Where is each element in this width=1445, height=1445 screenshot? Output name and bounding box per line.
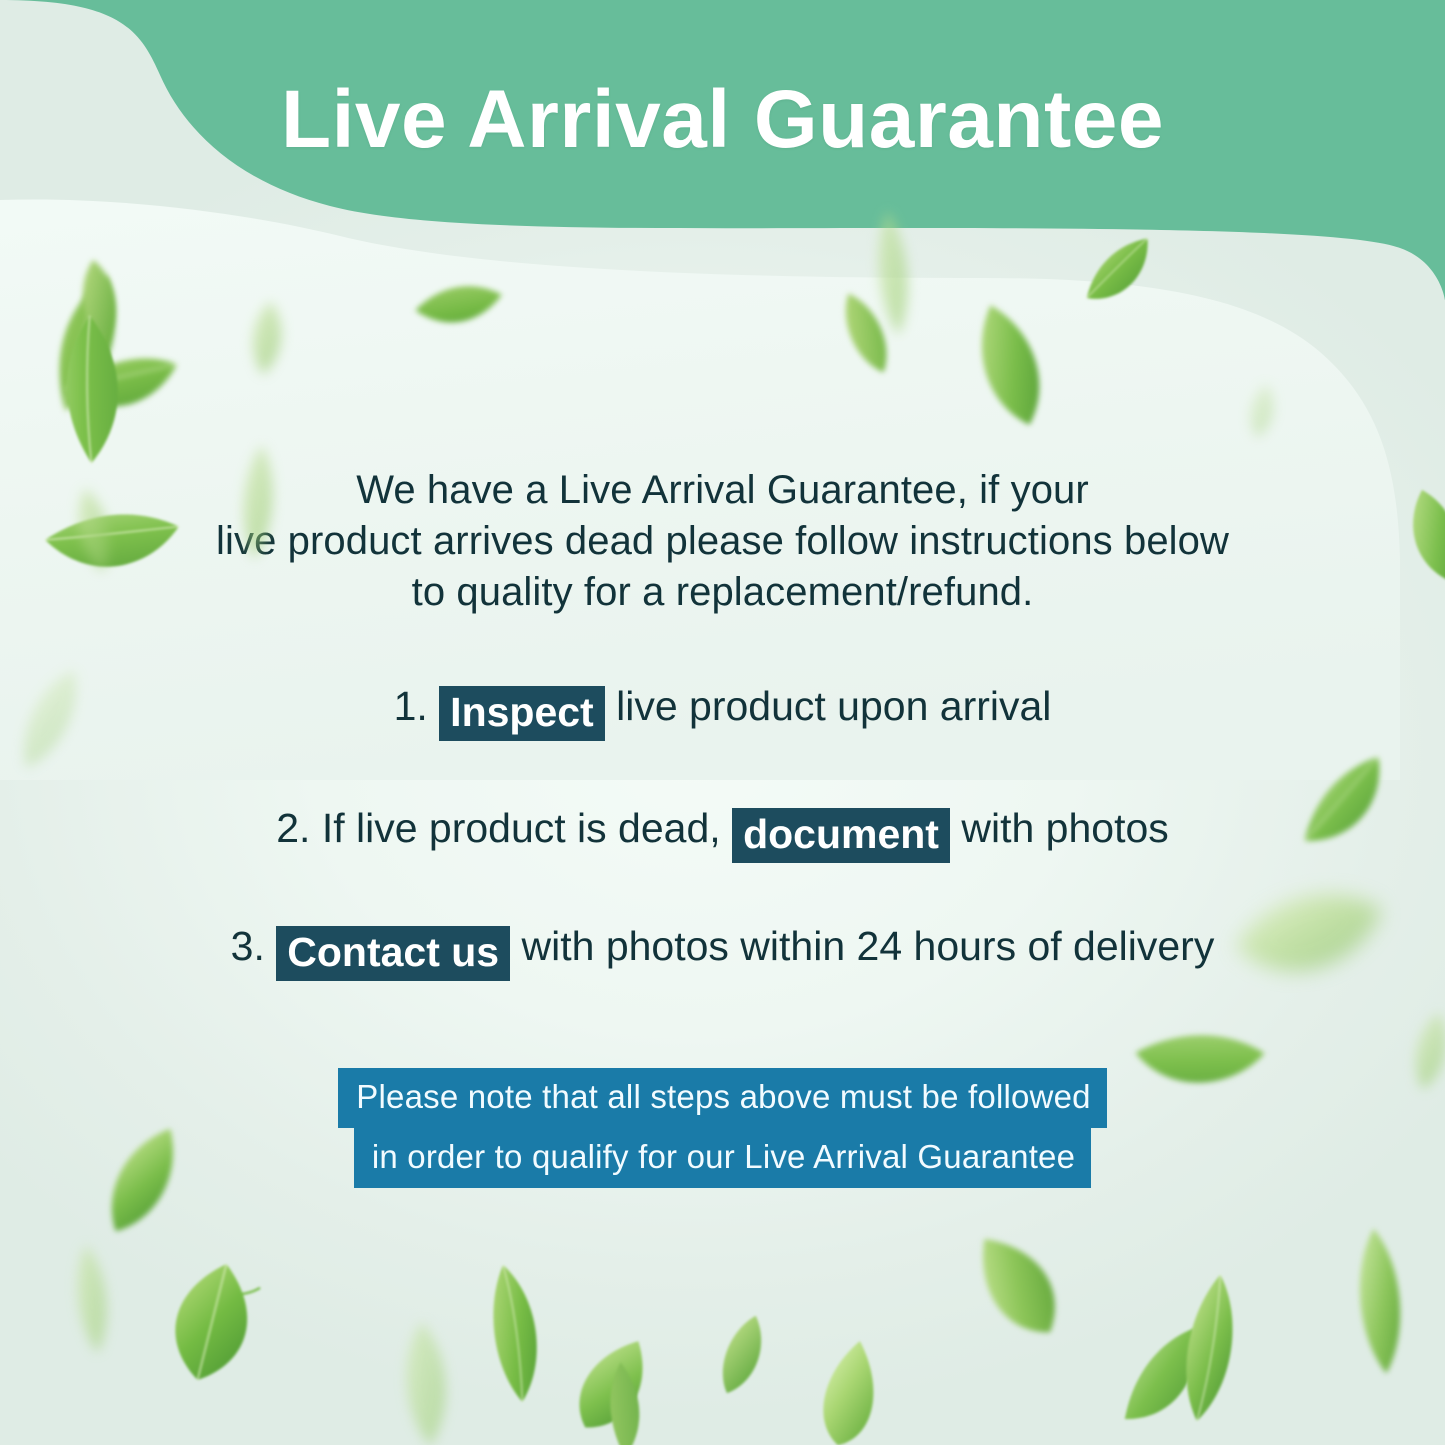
note-row-1: Please note that all steps above must be… <box>0 1068 1445 1128</box>
step-highlight-document: document <box>732 808 950 863</box>
intro-line-1: We have a Live Arrival Guarantee, if you… <box>143 465 1303 516</box>
step-number: 1. <box>394 683 428 729</box>
step-item: 2. If live product is dead, document wit… <box>0 802 1445 857</box>
intro-paragraph: We have a Live Arrival Guarantee, if you… <box>143 465 1303 618</box>
note-block: Please note that all steps above must be… <box>0 1068 1445 1188</box>
live-arrival-guarantee-poster: Live Arrival Guarantee We have a Live Ar… <box>0 0 1445 1445</box>
step-text-after: live product upon arrival <box>616 683 1051 729</box>
step-text-before: If live product is dead, <box>322 805 721 851</box>
step-highlight-contact-us: Contact us <box>276 926 510 981</box>
step-item: 1. Inspect live product upon arrival <box>0 680 1445 735</box>
step-number: 3. <box>231 923 265 969</box>
steps-list: 1. Inspect live product upon arrival 2. … <box>0 680 1445 975</box>
step-text-after: with photos <box>961 805 1168 851</box>
intro-line-3: to quality for a replacement/refund. <box>143 567 1303 618</box>
note-line-1: Please note that all steps above must be… <box>338 1068 1106 1128</box>
step-text-after: with photos within 24 hours of delivery <box>522 923 1215 969</box>
intro-line-2: live product arrives dead please follow … <box>143 516 1303 567</box>
step-number: 2. <box>276 805 310 851</box>
note-line-2: in order to qualify for our Live Arrival… <box>354 1128 1091 1188</box>
step-item: 3. Contact us with photos within 24 hour… <box>0 920 1445 975</box>
step-highlight-inspect: Inspect <box>439 686 605 741</box>
page-title: Live Arrival Guarantee <box>0 72 1445 168</box>
note-row-2: in order to qualify for our Live Arrival… <box>0 1128 1445 1188</box>
